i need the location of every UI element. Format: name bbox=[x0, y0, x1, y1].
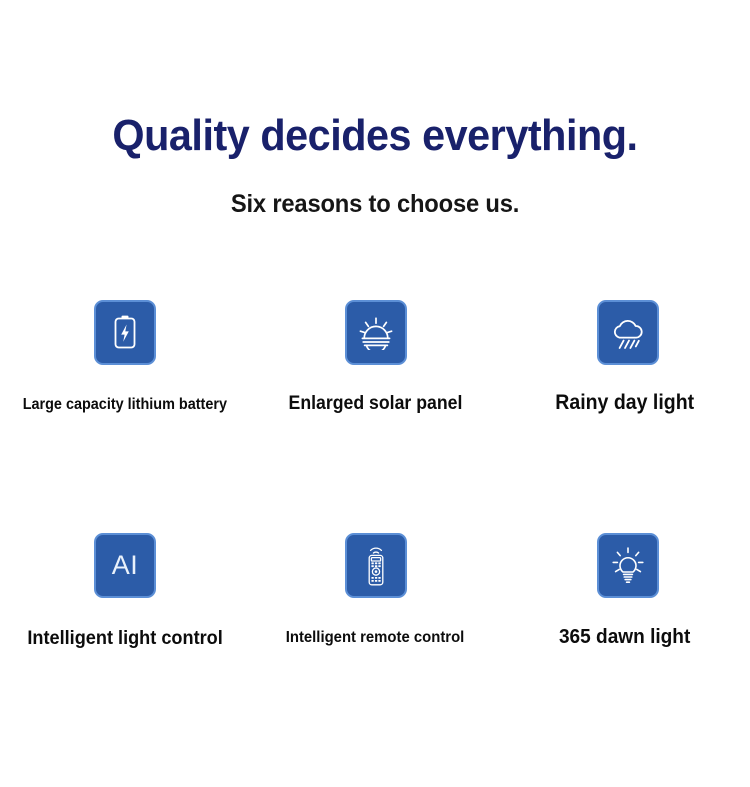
ai-text-icon: AI bbox=[112, 552, 139, 579]
feature-item-remote-control[interactable]: Intelligent remote control bbox=[250, 533, 500, 650]
rain-cloud-icon bbox=[609, 315, 647, 351]
feature-label: Rainy day light bbox=[556, 391, 695, 415]
light-bulb-icon bbox=[609, 546, 647, 586]
feature-icon-tile-battery bbox=[94, 300, 156, 365]
battery-charging-icon bbox=[112, 314, 138, 352]
feature-icon-tile-rainy-day bbox=[597, 300, 659, 365]
promo-page: Quality decides everything. Six reasons … bbox=[0, 0, 750, 787]
feature-item-rainy-day[interactable]: Rainy day light bbox=[500, 300, 750, 415]
feature-label: 365 dawn light bbox=[559, 625, 690, 649]
feature-label: Intelligent remote control bbox=[286, 629, 465, 647]
page-title: Quality decides everything. bbox=[23, 112, 728, 160]
feature-label: Enlarged solar panel bbox=[288, 393, 462, 415]
feature-row: Large capacity lithium battery bbox=[0, 300, 750, 415]
heading-block: Quality decides everything. Six reasons … bbox=[0, 112, 750, 219]
feature-label: Intelligent light control bbox=[27, 627, 222, 650]
feature-item-intelligent-light-control[interactable]: AI Intelligent light control bbox=[0, 533, 250, 650]
feature-icon-tile-ai: AI bbox=[94, 533, 156, 598]
remote-control-icon bbox=[361, 544, 391, 588]
feature-icon-tile-remote-control bbox=[345, 533, 407, 598]
feature-grid: Large capacity lithium battery bbox=[0, 300, 750, 650]
feature-label: Large capacity lithium battery bbox=[23, 396, 227, 414]
solar-panel-icon bbox=[357, 316, 395, 350]
feature-icon-tile-dawn-light bbox=[597, 533, 659, 598]
page-subtitle: Six reasons to choose us. bbox=[19, 160, 732, 219]
feature-icon-tile-solar-panel bbox=[345, 300, 407, 365]
feature-item-battery[interactable]: Large capacity lithium battery bbox=[0, 300, 250, 415]
feature-item-dawn-light[interactable]: 365 dawn light bbox=[500, 533, 750, 650]
feature-item-solar-panel[interactable]: Enlarged solar panel bbox=[250, 300, 500, 415]
feature-row: AI Intelligent light control bbox=[0, 533, 750, 650]
